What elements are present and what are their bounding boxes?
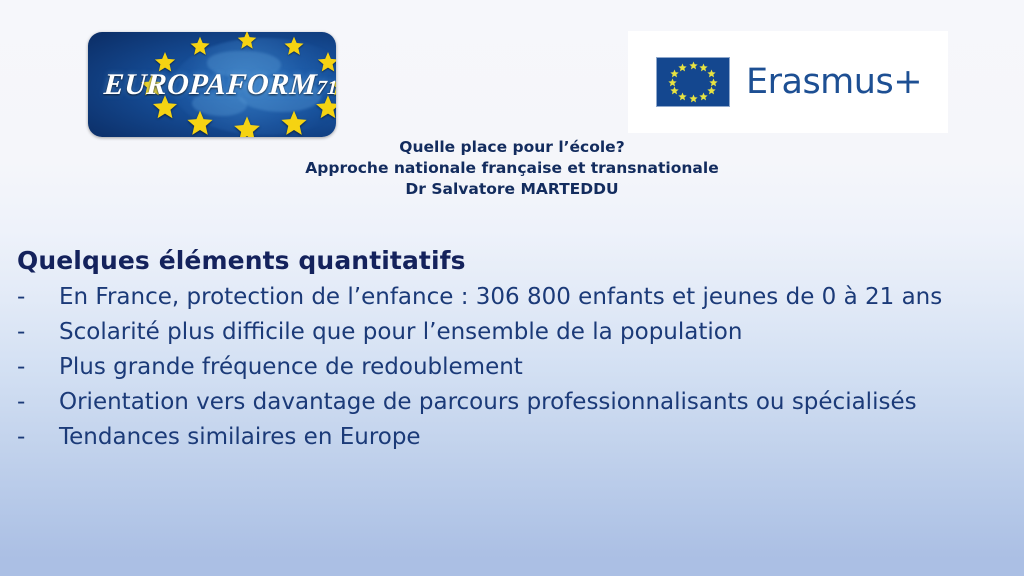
european-union-flag-icon xyxy=(656,57,730,107)
erasmus-plus-logo: Erasmus+ xyxy=(628,31,948,133)
star-icon xyxy=(186,109,214,137)
list-item: - Tendances similaires en Europe xyxy=(17,424,1007,459)
subtitle-line-2: Approche nationale française et transnat… xyxy=(0,158,1024,179)
list-item-label: Plus grande fréquence de redoublement xyxy=(59,354,1007,380)
bullet-list: - En France, protection de l’enfance : 3… xyxy=(17,284,1007,459)
slide-canvas: EUROPAFORM71 Erasmus+ Quelle place pour … xyxy=(0,0,1024,576)
star-icon xyxy=(283,36,304,57)
star-icon xyxy=(689,94,698,103)
list-item-label: En France, protection de l’enfance : 306… xyxy=(59,284,1007,310)
list-item: - Orientation vers davantage de parcours… xyxy=(17,389,1007,424)
star-icon xyxy=(237,32,257,51)
section-heading: Quelques éléments quantitatifs xyxy=(17,246,466,275)
list-item: - Scolarité plus difficile que pour l’en… xyxy=(17,319,1007,354)
europaform71-logo: EUROPAFORM71 xyxy=(88,32,336,137)
europaform71-wordmark: EUROPAFORM71 xyxy=(103,68,336,102)
slide-subtitle-block: Quelle place pour l’école? Approche nati… xyxy=(0,137,1024,200)
star-icon xyxy=(670,86,679,95)
subtitle-line-1: Quelle place pour l’école? xyxy=(0,137,1024,158)
star-icon xyxy=(699,92,708,101)
star-icon xyxy=(689,61,698,70)
star-icon xyxy=(233,115,261,137)
list-item: - En France, protection de l’enfance : 3… xyxy=(17,284,1007,319)
list-item-label: Scolarité plus difficile que pour l’ense… xyxy=(59,319,1007,345)
star-icon xyxy=(678,63,687,72)
list-item: - Plus grande fréquence de redoublement xyxy=(17,354,1007,389)
bullet-marker: - xyxy=(17,424,59,450)
star-icon xyxy=(280,109,308,137)
list-item-label: Tendances similaires en Europe xyxy=(59,424,1007,450)
bullet-marker: - xyxy=(17,284,59,310)
star-icon xyxy=(668,78,677,87)
subtitle-line-3: Dr Salvatore MARTEDDU xyxy=(0,179,1024,200)
star-icon xyxy=(189,36,210,57)
bullet-marker: - xyxy=(17,354,59,380)
erasmus-plus-wordmark: Erasmus+ xyxy=(746,62,922,102)
bullet-marker: - xyxy=(17,319,59,345)
bullet-marker: - xyxy=(17,389,59,415)
list-item-label: Orientation vers davantage de parcours p… xyxy=(59,389,1007,415)
